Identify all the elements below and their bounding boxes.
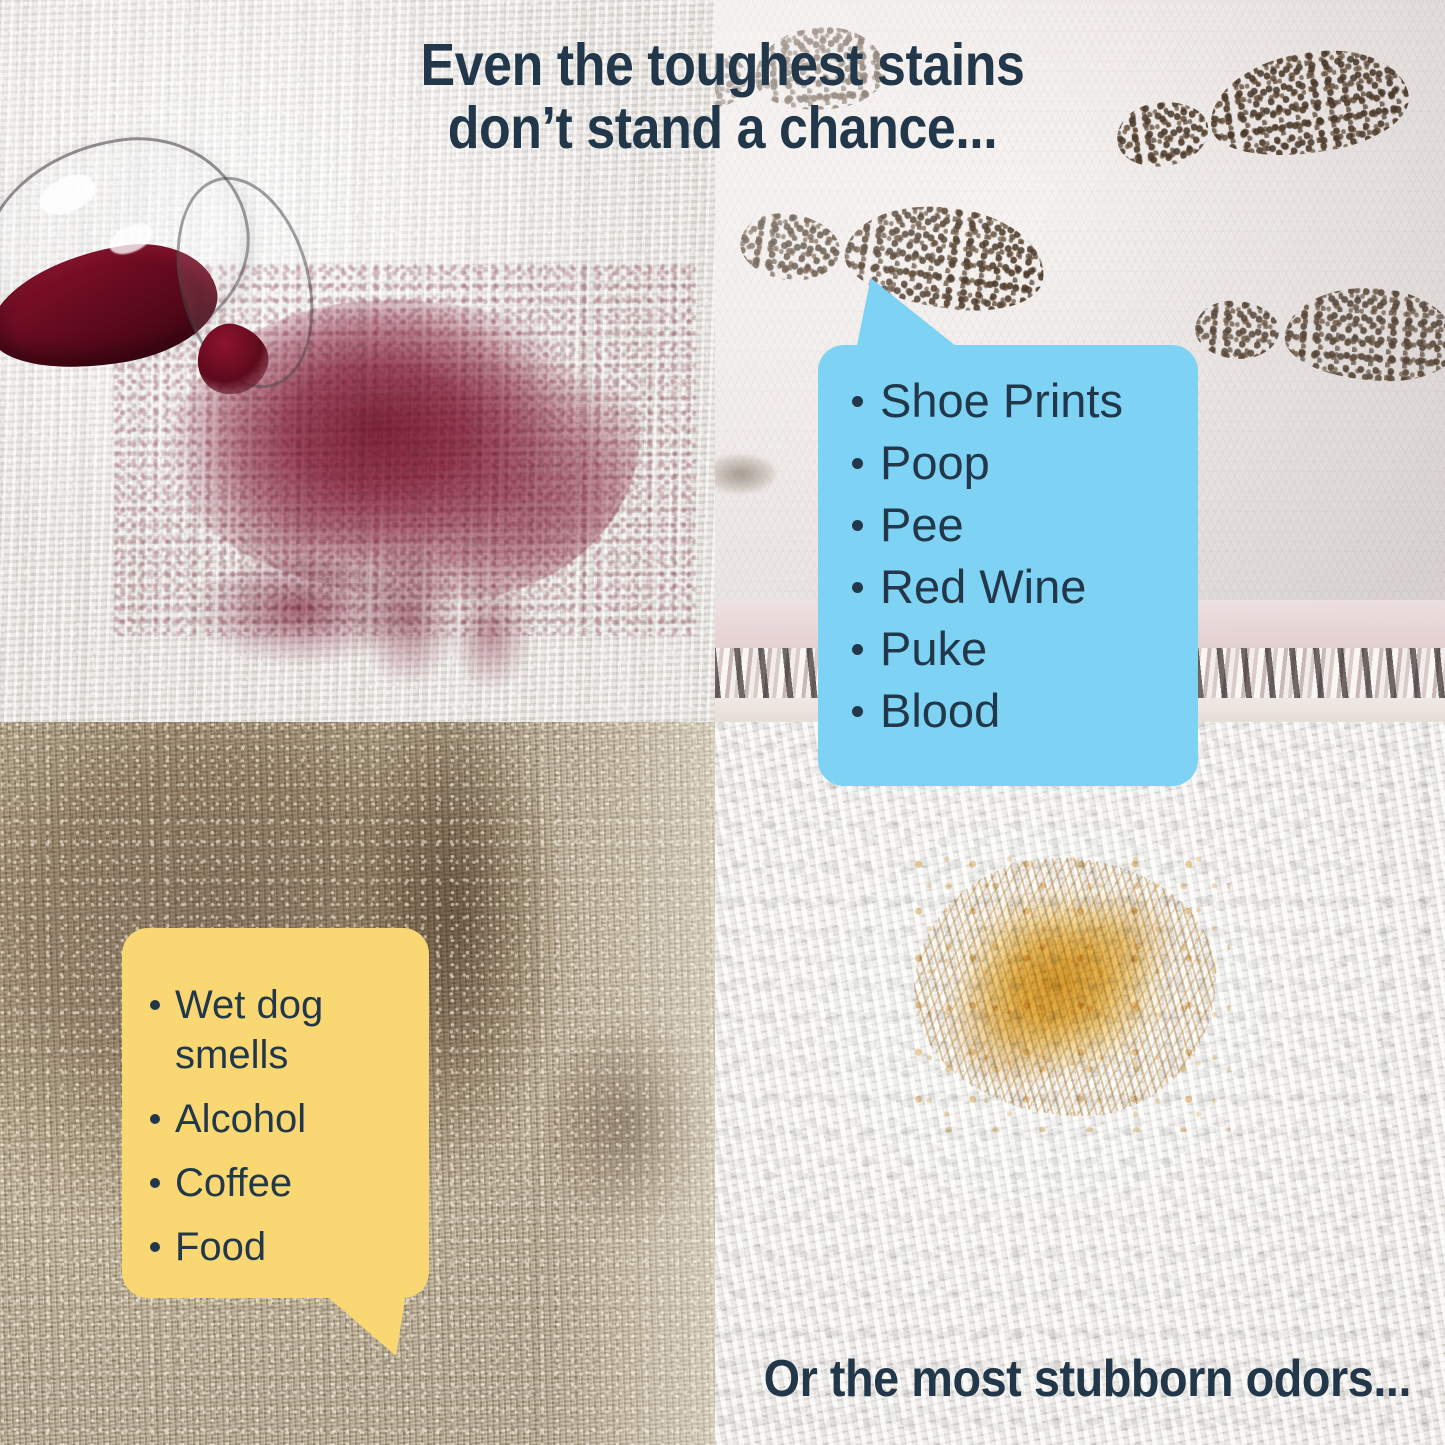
headline-line-2: don’t stand a chance... [87, 97, 1359, 160]
page-title: Even the toughest stains don’t stand a c… [87, 34, 1359, 159]
bubble-tail-up [856, 278, 961, 350]
stains-callout-bubble: Shoe Prints Poop Pee Red Wine Puke Blood [818, 278, 1198, 786]
list-item: Puke [852, 618, 1198, 680]
stain-label: Blood [880, 680, 1000, 742]
quadrant-food-stain [715, 722, 1445, 1445]
list-item: Red Wine [852, 556, 1198, 618]
list-item: Alcohol [150, 1094, 429, 1144]
bullet-dot [852, 706, 863, 717]
bullet-dot [852, 582, 863, 593]
headline-line-1: Even the toughest stains [421, 32, 1025, 98]
odor-label: Wet dog smells [175, 980, 429, 1080]
bullet-dot [852, 644, 863, 655]
stains-list: Shoe Prints Poop Pee Red Wine Puke Blood [852, 370, 1198, 742]
bullet-dot [852, 396, 863, 407]
bubble-tail-down [308, 1280, 408, 1356]
list-item: Food [150, 1222, 429, 1272]
bullet-dot [150, 1242, 160, 1252]
stain-label: Red Wine [880, 556, 1086, 618]
wine-glass [0, 130, 310, 430]
odors-list: Wet dog smells Alcohol Coffee Food [150, 980, 429, 1272]
bullet-dot [852, 458, 863, 469]
odors-callout-bubble: Wet dog smells Alcohol Coffee Food [122, 928, 429, 1356]
stain-label: Pee [880, 494, 964, 556]
odor-label: Alcohol [175, 1094, 306, 1144]
list-item: Shoe Prints [852, 370, 1198, 432]
infographic-poster: Shoe Prints Poop Pee Red Wine Puke Blood [0, 0, 1445, 1445]
bullet-dot [852, 520, 863, 531]
food-stain-specks [910, 852, 1230, 1132]
wine-drip-marks [330, 540, 590, 690]
list-item: Blood [852, 680, 1198, 742]
bullet-dot [150, 1178, 160, 1188]
list-item: Pee [852, 494, 1198, 556]
bottom-headline: Or the most stubborn odors... [141, 1353, 1411, 1405]
odor-label: Food [175, 1222, 266, 1272]
stain-label: Shoe Prints [880, 370, 1123, 432]
bullet-dot [150, 1000, 160, 1010]
stain-label: Poop [880, 432, 990, 494]
list-item: Poop [852, 432, 1198, 494]
stain-label: Puke [880, 618, 987, 680]
list-item: Wet dog smells [150, 980, 429, 1080]
carpet-light-falloff [545, 722, 715, 1445]
list-item: Coffee [150, 1158, 429, 1208]
odor-label: Coffee [175, 1158, 292, 1208]
bullet-dot [150, 1114, 160, 1124]
